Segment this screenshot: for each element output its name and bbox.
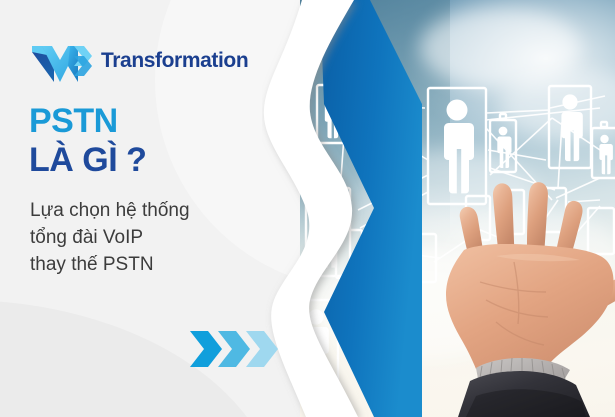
triple-chevron-accent-icon <box>188 325 288 373</box>
subtitle-line-2: tổng đài VoIP <box>30 225 190 252</box>
pstn-promo-banner: .ln{stroke:#ffffff;stroke-width:1.6;fill… <box>0 0 615 417</box>
mp-logo-mark-icon <box>30 40 92 82</box>
subtitle-line-1: Lựa chọn hệ thống <box>30 198 190 225</box>
subtitle-block: Lựa chọn hệ thống tổng đài VoIP thay thế… <box>30 198 190 279</box>
headline-line-1: PSTN <box>29 104 146 140</box>
headline-line-2: LÀ GÌ ? <box>29 141 146 179</box>
brand-wordmark: Transformation <box>101 49 248 73</box>
page-title: PSTN LÀ GÌ ? <box>29 104 146 179</box>
subtitle-line-3: thay thế PSTN <box>30 252 190 279</box>
brand-logo[interactable]: Transformation <box>30 40 248 82</box>
